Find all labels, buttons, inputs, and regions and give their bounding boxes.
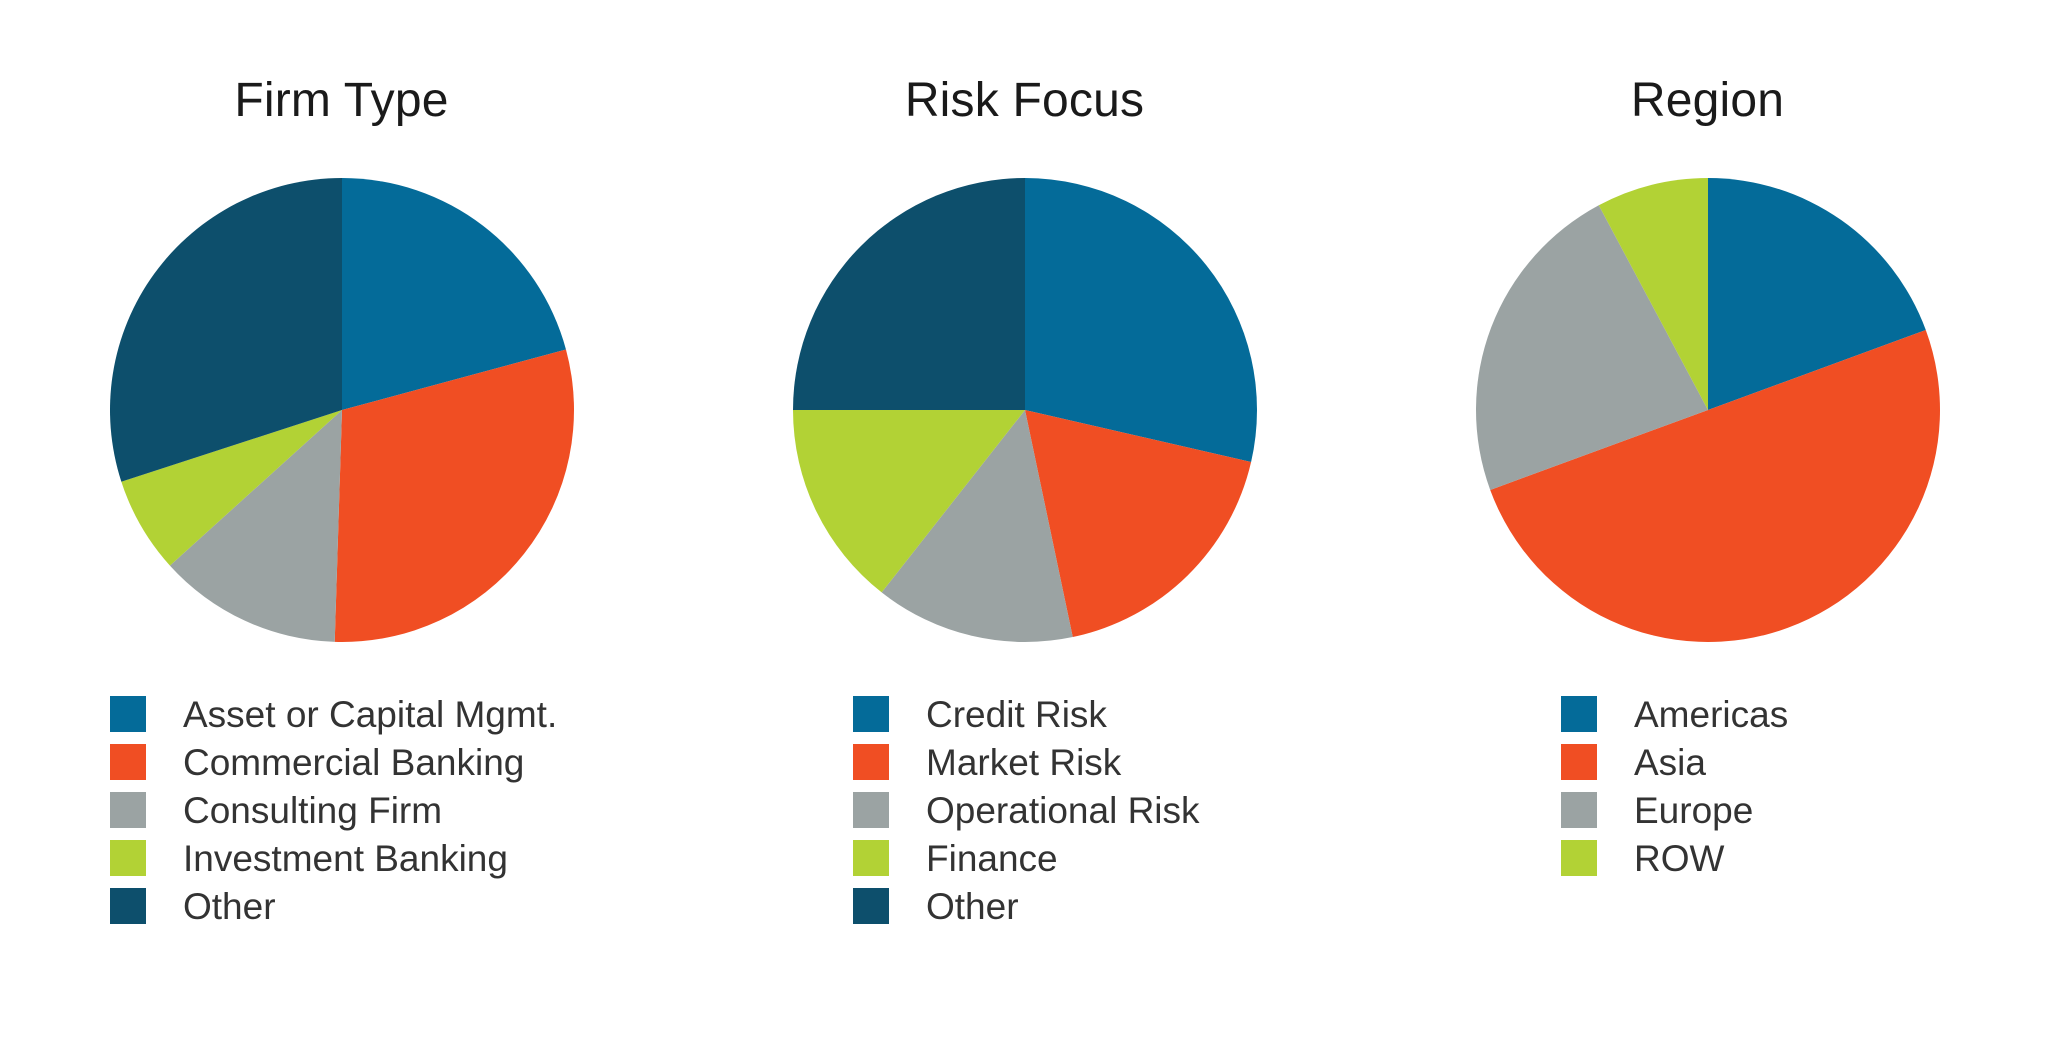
pie-svg-firm-type [102,170,582,650]
legend-item[interactable]: Other [853,882,1366,930]
legend-swatch-icon [1561,696,1597,732]
legend-swatch-icon [853,792,889,828]
legend-item-label: Commercial Banking [183,744,524,781]
chart-panel-firm-type: Firm Type Asset or Capital Mgmt. Commerc… [0,0,683,1060]
chart-title-firm-type: Firm Type [0,72,683,130]
pie-chart-risk-focus [683,170,1366,640]
legend-item-label: Operational Risk [926,792,1200,829]
legend-item[interactable]: Consulting Firm [110,786,683,834]
pie-slice[interactable] [793,178,1025,410]
legend-list: Asset or Capital Mgmt. Commercial Bankin… [110,690,683,930]
legend-item-label: Americas [1634,696,1788,733]
legend-item[interactable]: Commercial Banking [110,738,683,786]
legend-firm-type: Asset or Capital Mgmt. Commercial Bankin… [0,690,683,930]
pie-svg-region [1468,170,1948,650]
legend-region: Americas Asia Europe ROW [1366,690,2049,882]
legend-item-label: ROW [1634,840,1724,877]
legend-item-label: Market Risk [926,744,1121,781]
legend-swatch-icon [110,792,146,828]
legend-item[interactable]: Americas [1561,690,2049,738]
legend-item-label: Credit Risk [926,696,1107,733]
legend-item-label: Other [183,888,276,925]
legend-swatch-icon [1561,792,1597,828]
legend-swatch-icon [110,840,146,876]
legend-risk-focus: Credit Risk Market Risk Operational Risk… [683,690,1366,930]
legend-item-label: Investment Banking [183,840,508,877]
legend-item[interactable]: Investment Banking [110,834,683,882]
legend-item-label: Asset or Capital Mgmt. [183,696,557,733]
legend-item[interactable]: Other [110,882,683,930]
pie-chart-region [1366,170,2049,640]
chart-panel-risk-focus: Risk Focus Credit Risk Market Risk Opera… [683,0,1366,1060]
legend-item[interactable]: Market Risk [853,738,1366,786]
legend-swatch-icon [110,888,146,924]
legend-item[interactable]: Asia [1561,738,2049,786]
legend-swatch-icon [1561,840,1597,876]
legend-swatch-icon [853,744,889,780]
legend-item[interactable]: Operational Risk [853,786,1366,834]
legend-list: Americas Asia Europe ROW [1561,690,2049,882]
legend-swatch-icon [853,696,889,732]
legend-item-label: Finance [926,840,1058,877]
legend-swatch-icon [853,888,889,924]
chart-panel-region: Region Americas Asia Europe [1366,0,2049,1060]
chart-title-region: Region [1366,72,2049,130]
legend-item-label: Other [926,888,1019,925]
pie-svg-risk-focus [785,170,1265,650]
chart-title-risk-focus: Risk Focus [683,72,1366,130]
pie-chart-firm-type [0,170,683,640]
legend-item[interactable]: Asset or Capital Mgmt. [110,690,683,738]
dashboard-root: Firm Type Asset or Capital Mgmt. Commerc… [0,0,2050,1060]
legend-swatch-icon [1561,744,1597,780]
legend-item[interactable]: Credit Risk [853,690,1366,738]
legend-item-label: Asia [1634,744,1706,781]
legend-swatch-icon [853,840,889,876]
legend-swatch-icon [110,744,146,780]
legend-item[interactable]: Finance [853,834,1366,882]
legend-item-label: Europe [1634,792,1753,829]
legend-item[interactable]: ROW [1561,834,2049,882]
legend-item-label: Consulting Firm [183,792,442,829]
legend-swatch-icon [110,696,146,732]
legend-item[interactable]: Europe [1561,786,2049,834]
legend-list: Credit Risk Market Risk Operational Risk… [853,690,1366,930]
